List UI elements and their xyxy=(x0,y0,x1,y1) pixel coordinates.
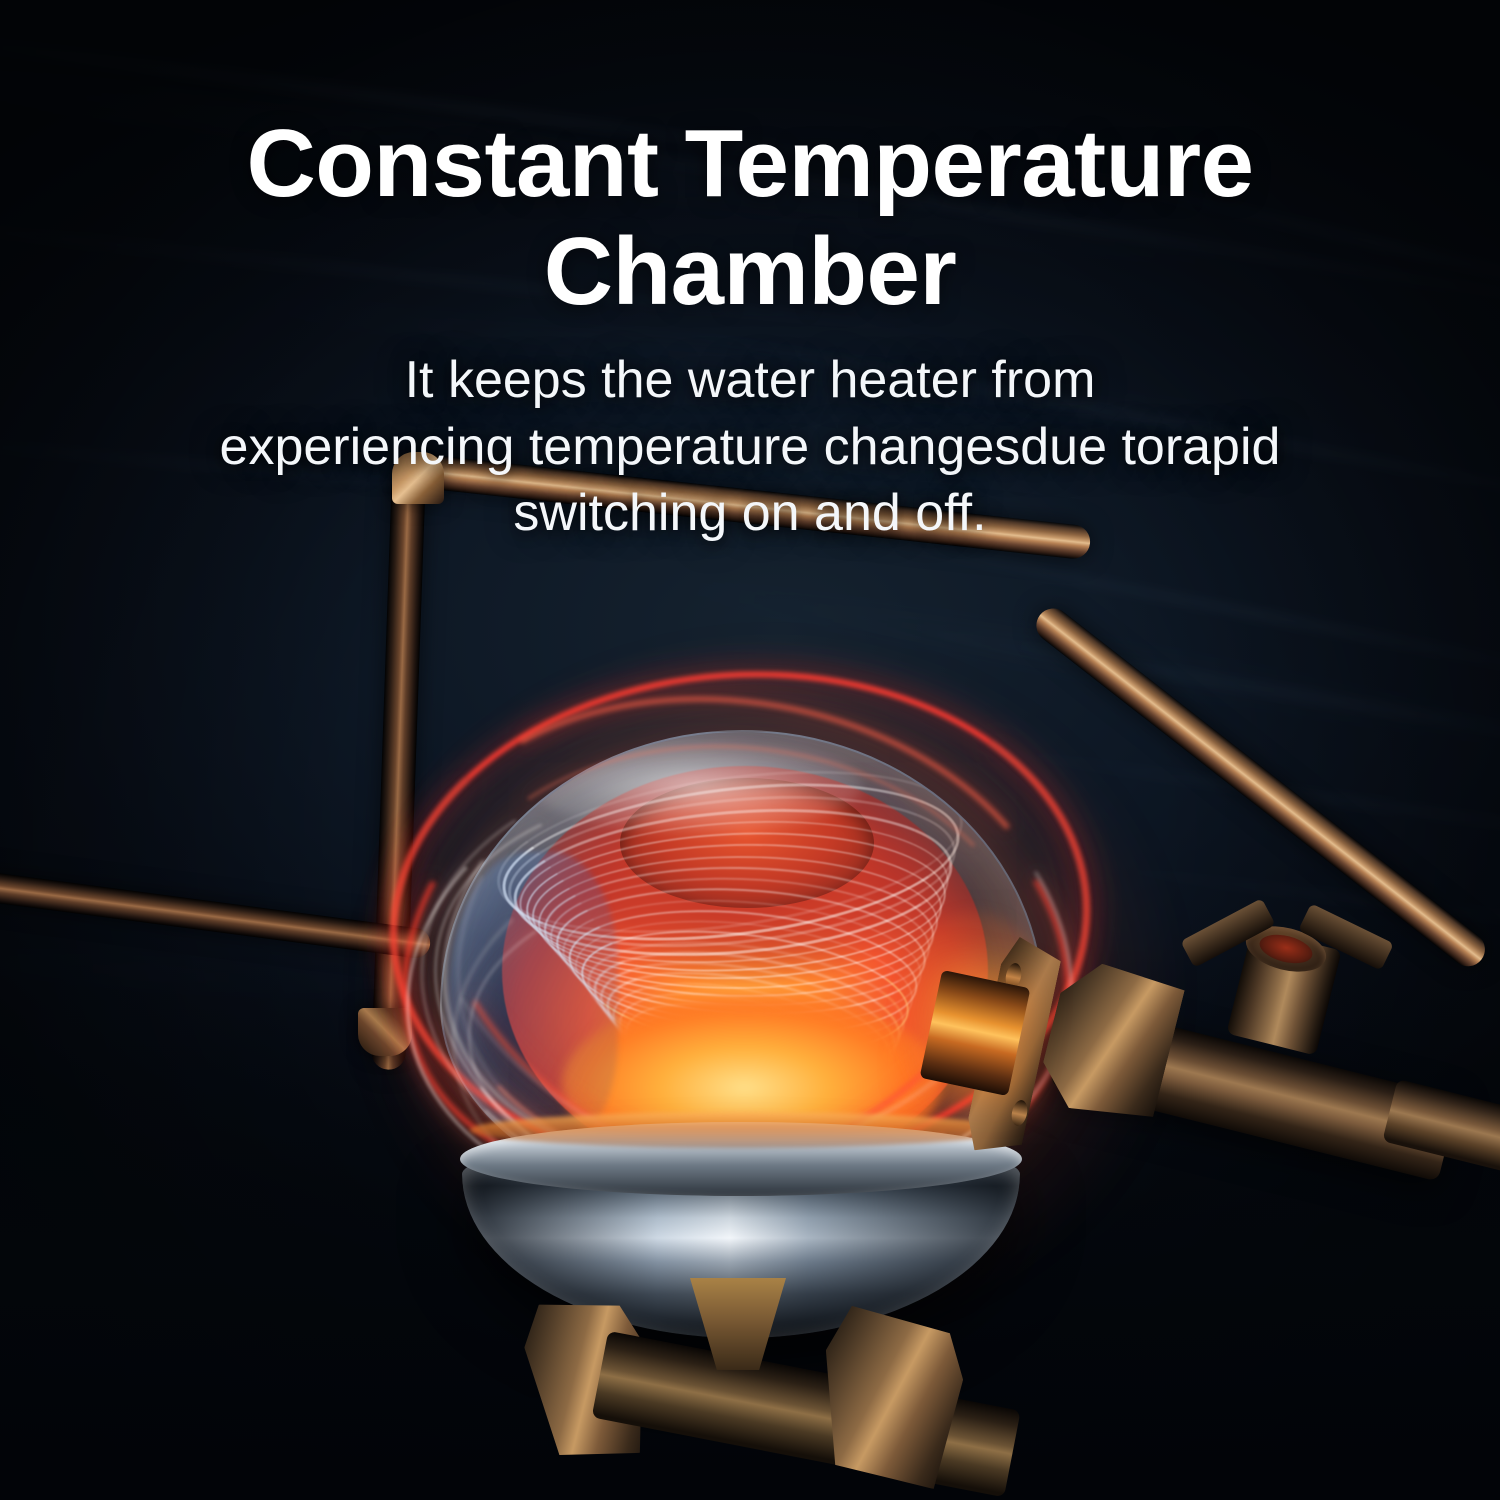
product-feature-banner: Constant Temperature Chamber It keeps th… xyxy=(0,0,1500,1500)
right-plumbing-assembly xyxy=(0,0,1500,1500)
